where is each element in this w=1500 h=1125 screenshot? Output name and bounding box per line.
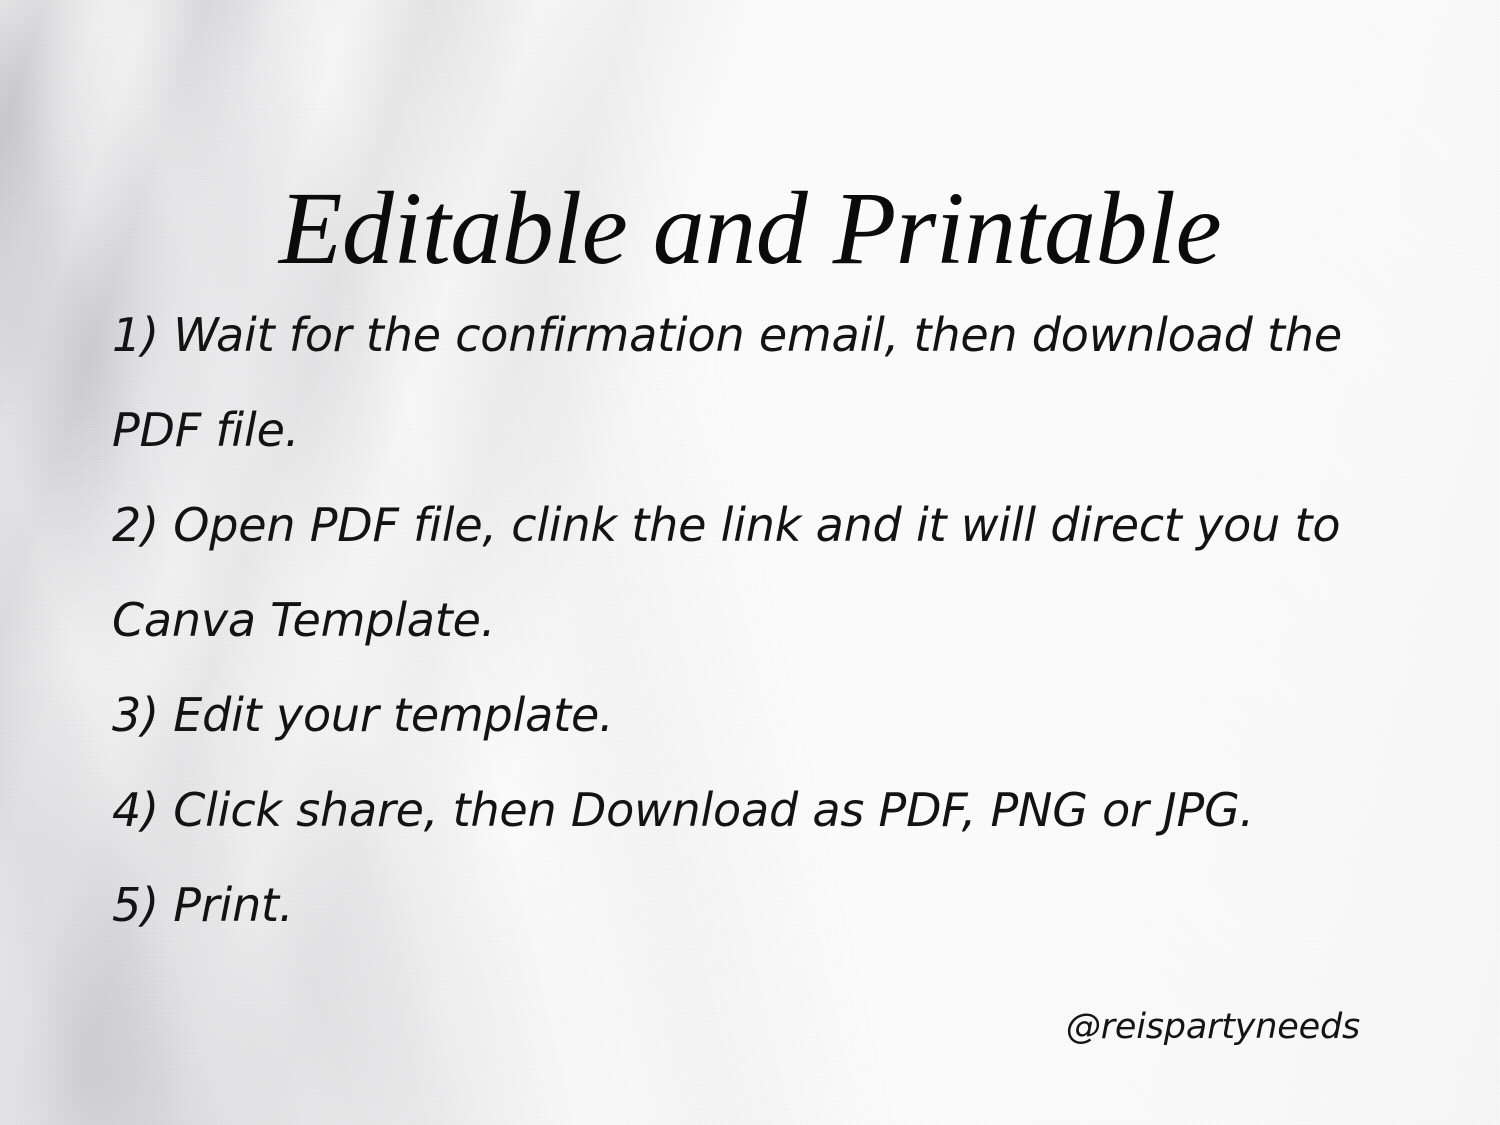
instagram-handle: @reispartyneeds <box>1066 1006 1360 1048</box>
instruction-line: 1) Wait for the confirmation email, then… <box>112 288 1432 383</box>
instruction-line: 5) Print. <box>112 858 1432 953</box>
instruction-line: 2) Open PDF file, clink the link and it … <box>112 478 1432 573</box>
instruction-line: 3) Edit your template. <box>112 668 1432 763</box>
instruction-line: Canva Template. <box>112 573 1432 668</box>
instruction-line: 4) Click share, then Download as PDF, PN… <box>112 763 1432 858</box>
slide-canvas: Editable and Printable 1) Wait for the c… <box>0 0 1500 1125</box>
slide-content: Editable and Printable 1) Wait for the c… <box>0 0 1500 1125</box>
instructions-list: 1) Wait for the confirmation email, then… <box>112 288 1432 953</box>
instruction-line: PDF file. <box>112 383 1432 478</box>
page-title: Editable and Printable <box>0 174 1500 283</box>
